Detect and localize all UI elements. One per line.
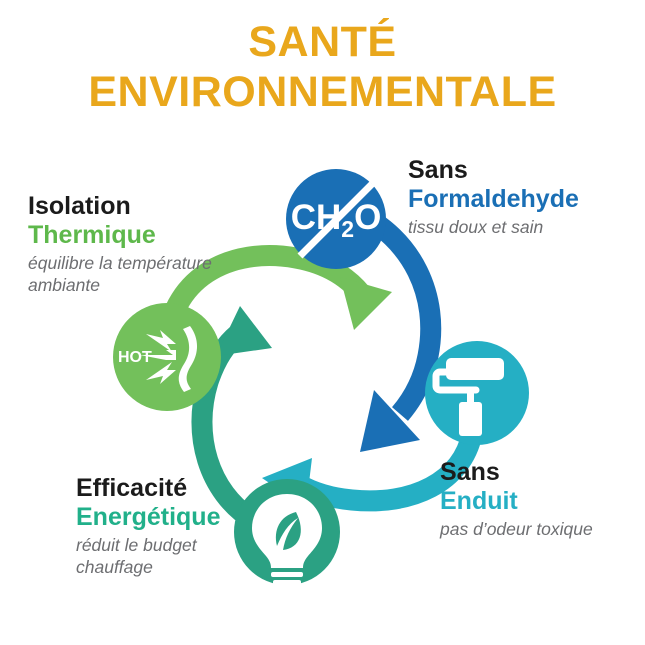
isolation-caption: équilibre la température ambiante (28, 252, 243, 296)
infographic-root: SANTÉ ENVIRONNEMENTALE (0, 0, 645, 645)
formaldehyde-subheading: Formaldehyde (408, 185, 579, 214)
node-efficacite-energetique[interactable] (234, 479, 340, 593)
formaldehyde-heading: Sans (408, 156, 579, 185)
enduit-subheading: Enduit (440, 487, 593, 516)
enduit-heading: Sans (440, 458, 593, 487)
label-efficacite-energetique: Efficacité Energétique réduit le budget … (76, 474, 246, 578)
efficacite-caption: réduit le budget chauffage (76, 534, 246, 578)
isolation-heading: Isolation (28, 192, 243, 221)
label-sans-enduit: Sans Enduit pas d’odeur toxique (440, 458, 593, 540)
efficacite-subheading: Energétique (76, 503, 246, 532)
efficacite-heading: Efficacité (76, 474, 246, 503)
formaldehyde-caption: tissu doux et sain (408, 216, 579, 238)
isolation-subheading: Thermique (28, 221, 243, 250)
enduit-caption: pas d’odeur toxique (440, 518, 593, 540)
node-isolation-thermique[interactable]: HOT (113, 303, 221, 411)
heat-barrier-label: HOT (118, 349, 152, 366)
node-sans-formaldehyde[interactable]: CH2O (286, 169, 386, 269)
label-sans-formaldehyde: Sans Formaldehyde tissu doux et sain (408, 156, 579, 238)
node-sans-enduit[interactable] (425, 341, 529, 445)
label-isolation-thermique: Isolation Thermique équilibre la tempéra… (28, 192, 243, 296)
